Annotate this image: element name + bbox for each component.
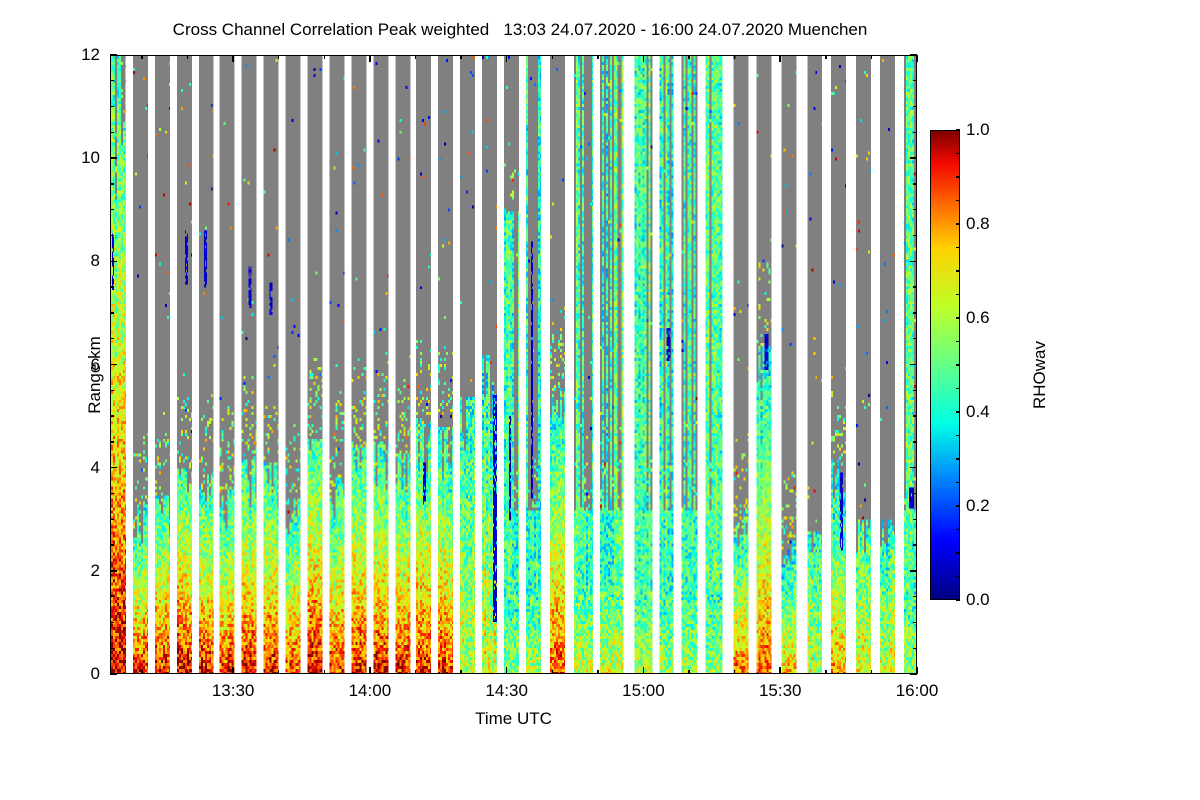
colorbar-minor-tick bbox=[956, 129, 960, 130]
y-minor-tick bbox=[913, 415, 917, 416]
y-minor-tick bbox=[110, 622, 114, 623]
colorbar-label: RHOwav bbox=[1030, 270, 1050, 480]
colorbar-minor-tick bbox=[956, 341, 960, 342]
y-minor-tick bbox=[110, 544, 114, 545]
x-minor-tick bbox=[597, 55, 598, 59]
y-minor-tick bbox=[913, 390, 917, 391]
x-tick-label: 15:30 bbox=[759, 681, 802, 701]
y-tick-mark bbox=[910, 364, 917, 366]
colorbar-minor-tick bbox=[956, 200, 960, 201]
x-tick-mark bbox=[643, 667, 645, 674]
y-minor-tick bbox=[913, 132, 917, 133]
x-minor-tick bbox=[460, 670, 461, 674]
colorbar-minor-tick bbox=[956, 294, 960, 295]
x-tick-mark bbox=[369, 667, 371, 674]
x-minor-tick bbox=[141, 670, 142, 674]
y-tick-mark bbox=[910, 467, 917, 469]
x-tick-label: 14:30 bbox=[485, 681, 528, 701]
x-tick-mark bbox=[916, 667, 918, 674]
heatmap-canvas[interactable] bbox=[111, 56, 916, 673]
colorbar-minor-tick bbox=[956, 153, 960, 154]
y-minor-tick bbox=[110, 132, 114, 133]
page-title: Cross Channel Correlation Peak weighted … bbox=[0, 20, 1040, 40]
x-tick-mark bbox=[232, 667, 234, 674]
colorbar-minor-tick bbox=[956, 176, 960, 177]
x-tick-mark bbox=[506, 55, 508, 62]
y-tick-mark bbox=[110, 570, 117, 572]
y-minor-tick bbox=[110, 648, 114, 649]
colorbar-minor-tick bbox=[956, 388, 960, 389]
x-minor-tick bbox=[597, 670, 598, 674]
y-tick-mark bbox=[110, 364, 117, 366]
x-tick-label: 14:00 bbox=[349, 681, 392, 701]
x-minor-tick bbox=[187, 670, 188, 674]
colorbar-minor-tick bbox=[956, 223, 960, 224]
y-tick-label: 12 bbox=[40, 45, 100, 65]
x-minor-tick bbox=[825, 670, 826, 674]
x-minor-tick bbox=[415, 670, 416, 674]
y-tick-mark bbox=[110, 467, 117, 469]
y-tick-mark bbox=[910, 157, 917, 159]
x-minor-tick bbox=[141, 55, 142, 59]
x-minor-tick bbox=[278, 670, 279, 674]
y-minor-tick bbox=[110, 286, 114, 287]
y-minor-tick bbox=[110, 441, 114, 442]
colorbar-tick-label: 0.0 bbox=[966, 590, 990, 610]
y-minor-tick bbox=[913, 106, 917, 107]
y-minor-tick bbox=[913, 544, 917, 545]
colorbar-gradient bbox=[931, 131, 959, 599]
y-tick-label: 0 bbox=[40, 664, 100, 684]
y-minor-tick bbox=[110, 596, 114, 597]
y-tick-mark bbox=[110, 261, 117, 263]
y-tick-label: 4 bbox=[40, 458, 100, 478]
y-minor-tick bbox=[913, 441, 917, 442]
y-tick-label: 6 bbox=[40, 355, 100, 375]
y-minor-tick bbox=[913, 596, 917, 597]
y-tick-mark bbox=[910, 570, 917, 572]
y-tick-mark bbox=[110, 157, 117, 159]
y-tick-mark bbox=[110, 673, 117, 675]
y-minor-tick bbox=[913, 312, 917, 313]
x-minor-tick bbox=[734, 55, 735, 59]
y-minor-tick bbox=[913, 286, 917, 287]
colorbar-minor-tick bbox=[956, 576, 960, 577]
colorbar-minor-tick bbox=[956, 482, 960, 483]
y-minor-tick bbox=[913, 183, 917, 184]
colorbar-minor-tick bbox=[956, 505, 960, 506]
x-tick-mark bbox=[779, 667, 781, 674]
x-minor-tick bbox=[871, 55, 872, 59]
y-minor-tick bbox=[110, 415, 114, 416]
x-minor-tick bbox=[460, 55, 461, 59]
y-minor-tick bbox=[110, 312, 114, 313]
x-tick-label: 13:30 bbox=[212, 681, 255, 701]
y-minor-tick bbox=[913, 493, 917, 494]
x-tick-label: 16:00 bbox=[896, 681, 939, 701]
y-tick-mark bbox=[910, 261, 917, 263]
y-minor-tick bbox=[110, 390, 114, 391]
x-minor-tick bbox=[187, 55, 188, 59]
x-minor-tick bbox=[825, 55, 826, 59]
y-minor-tick bbox=[110, 183, 114, 184]
y-minor-tick bbox=[110, 209, 114, 210]
x-minor-tick bbox=[415, 55, 416, 59]
x-minor-tick bbox=[324, 670, 325, 674]
colorbar-tick-label: 0.6 bbox=[966, 308, 990, 328]
y-minor-tick bbox=[913, 80, 917, 81]
x-tick-mark bbox=[506, 667, 508, 674]
x-minor-tick bbox=[734, 670, 735, 674]
colorbar-minor-tick bbox=[956, 270, 960, 271]
y-axis-label: Range km bbox=[85, 275, 105, 475]
colorbar-minor-tick bbox=[956, 317, 960, 318]
y-tick-label: 10 bbox=[40, 148, 100, 168]
figure-root: Cross Channel Correlation Peak weighted … bbox=[0, 0, 1200, 800]
x-minor-tick bbox=[688, 670, 689, 674]
y-minor-tick bbox=[913, 338, 917, 339]
y-minor-tick bbox=[110, 106, 114, 107]
x-tick-label: 15:00 bbox=[622, 681, 665, 701]
y-minor-tick bbox=[110, 235, 114, 236]
y-minor-tick bbox=[110, 519, 114, 520]
y-tick-label: 2 bbox=[40, 561, 100, 581]
y-minor-tick bbox=[913, 622, 917, 623]
colorbar-minor-tick bbox=[956, 529, 960, 530]
y-minor-tick bbox=[913, 209, 917, 210]
x-tick-mark bbox=[916, 55, 918, 62]
x-minor-tick bbox=[552, 670, 553, 674]
heatmap-plot-area[interactable] bbox=[110, 55, 917, 674]
y-minor-tick bbox=[110, 493, 114, 494]
x-axis-label: Time UTC bbox=[110, 709, 917, 729]
colorbar-minor-tick bbox=[956, 247, 960, 248]
colorbar-tick-label: 1.0 bbox=[966, 120, 990, 140]
x-tick-mark bbox=[643, 55, 645, 62]
y-minor-tick bbox=[913, 235, 917, 236]
y-minor-tick bbox=[110, 338, 114, 339]
colorbar-tick-label: 0.8 bbox=[966, 214, 990, 234]
colorbar-minor-tick bbox=[956, 411, 960, 412]
x-tick-mark bbox=[232, 55, 234, 62]
colorbar-minor-tick bbox=[956, 552, 960, 553]
x-minor-tick bbox=[688, 55, 689, 59]
x-minor-tick bbox=[324, 55, 325, 59]
x-tick-mark bbox=[369, 55, 371, 62]
colorbar-minor-tick bbox=[956, 435, 960, 436]
colorbar-tick-label: 0.4 bbox=[966, 402, 990, 422]
y-minor-tick bbox=[913, 648, 917, 649]
x-tick-mark bbox=[779, 55, 781, 62]
colorbar-minor-tick bbox=[956, 458, 960, 459]
y-minor-tick bbox=[913, 519, 917, 520]
x-minor-tick bbox=[871, 670, 872, 674]
colorbar-minor-tick bbox=[956, 599, 960, 600]
y-tick-mark bbox=[110, 54, 117, 56]
x-minor-tick bbox=[278, 55, 279, 59]
colorbar-tick-label: 0.2 bbox=[966, 496, 990, 516]
x-minor-tick bbox=[552, 55, 553, 59]
y-tick-label: 8 bbox=[40, 251, 100, 271]
y-minor-tick bbox=[110, 80, 114, 81]
colorbar-minor-tick bbox=[956, 364, 960, 365]
